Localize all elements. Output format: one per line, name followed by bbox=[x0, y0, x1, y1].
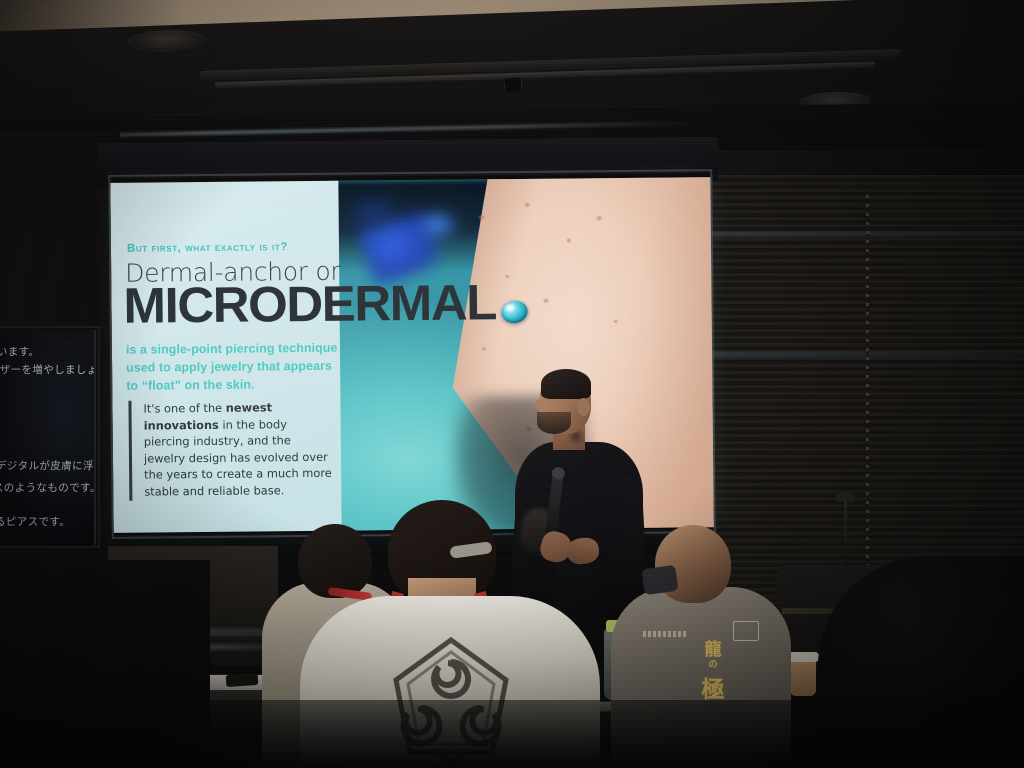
blinds-cord bbox=[866, 195, 869, 625]
photo-scene: But first, what exactly is it? Dermal-an… bbox=[0, 0, 1024, 768]
coffee-cup-lid bbox=[787, 652, 819, 662]
skin-freckle bbox=[479, 215, 485, 219]
shirt-kanji-print: 龍 の 極 bbox=[683, 635, 743, 704]
skin-freckle bbox=[567, 238, 571, 242]
kanji-bottom: 極 bbox=[683, 670, 743, 704]
slide-quote-block: It's one of the newest innovations in th… bbox=[128, 399, 335, 501]
slide-eyebrow: But first, what exactly is it? bbox=[127, 241, 337, 255]
skin-freckle bbox=[525, 203, 530, 207]
ceiling-sprinkler-icon bbox=[505, 78, 521, 93]
skin-freckle bbox=[505, 275, 509, 278]
quote-text-before: It's one of the bbox=[143, 401, 225, 416]
skin-freckle bbox=[614, 320, 618, 323]
face-mask bbox=[641, 565, 678, 595]
phone-on-table bbox=[226, 673, 259, 687]
photo-blur-blue-2 bbox=[415, 208, 461, 242]
shirt-side-text bbox=[643, 631, 687, 637]
presenter-hair bbox=[541, 369, 591, 399]
slide-headline: MICRODERMAL bbox=[123, 277, 496, 331]
slide-text-panel: But first, what exactly is it? Dermal-an… bbox=[110, 181, 341, 533]
skin-freckle bbox=[543, 299, 548, 303]
skin-freckle bbox=[482, 347, 486, 350]
foreground-dark-bottom bbox=[0, 700, 1024, 768]
presenter-beard bbox=[537, 412, 571, 434]
mic-stand-icon bbox=[844, 498, 847, 570]
skin-freckle bbox=[597, 216, 602, 220]
coffee-cup bbox=[790, 658, 816, 696]
presenter-ear bbox=[577, 398, 590, 416]
wall-monitor-frame bbox=[0, 326, 100, 548]
kanji-top: 龍 bbox=[683, 635, 743, 660]
slide-lead-paragraph: is a single-point piercing technique use… bbox=[126, 339, 339, 395]
